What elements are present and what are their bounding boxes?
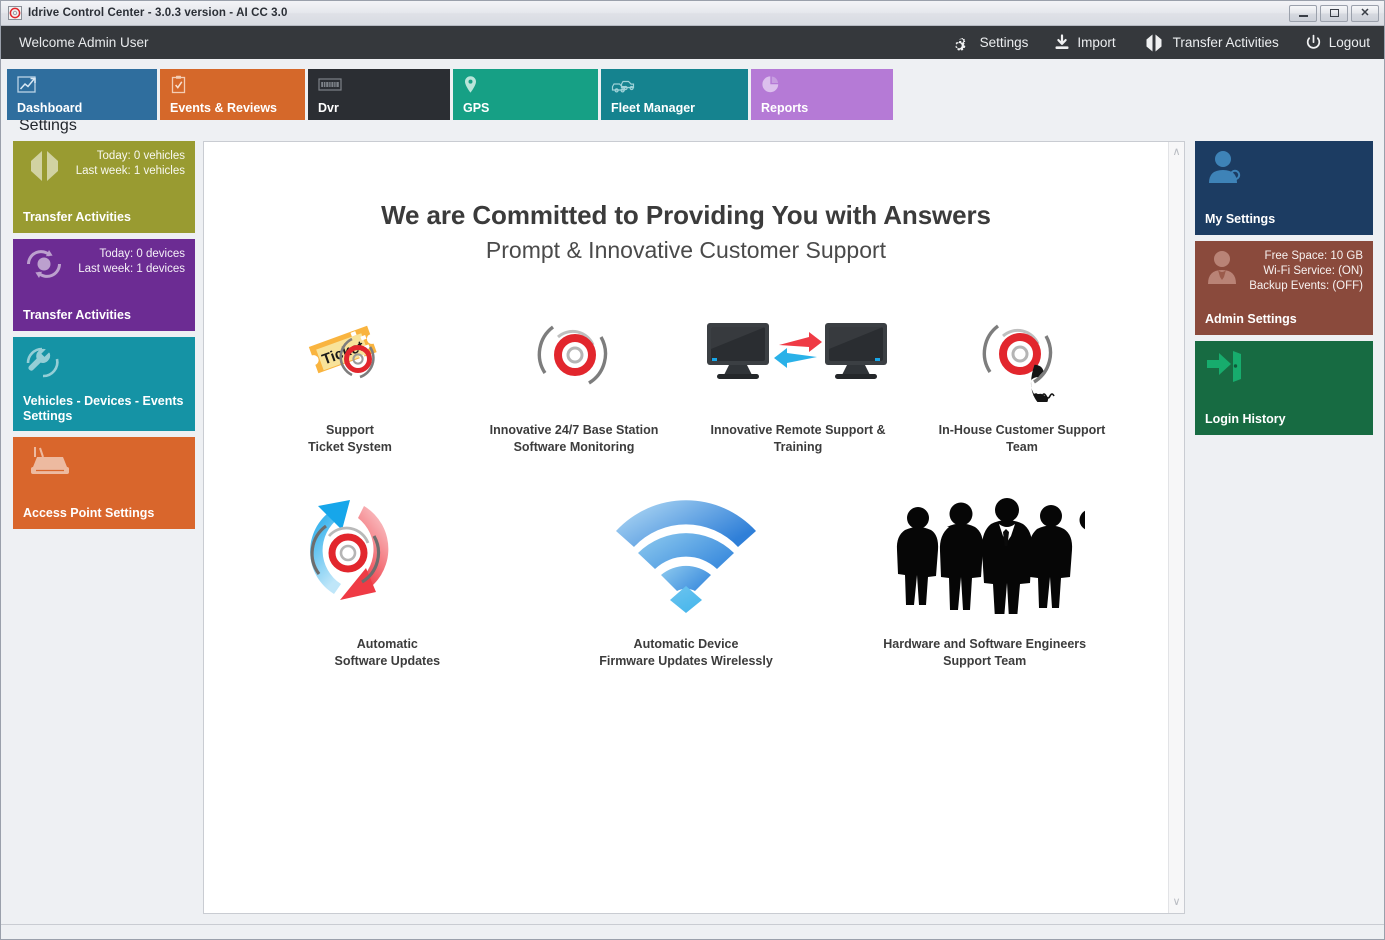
tile-stat-line: Wi-Fi Service: (ON)	[1249, 264, 1363, 279]
window-controls: ✕	[1289, 5, 1382, 22]
center-column: We are Committed to Providing You with A…	[203, 141, 1185, 914]
tile-access-point-settings[interactable]: Access Point Settings	[13, 437, 195, 529]
tile-label: Admin Settings	[1205, 312, 1363, 327]
feature-caption: Hardware and Software Engineers Support …	[883, 636, 1086, 670]
features-section: Ticket	[204, 302, 1168, 670]
maximize-button[interactable]	[1320, 5, 1348, 22]
logout-menu-label: Logout	[1329, 35, 1370, 50]
tab-dvr[interactable]: Dvr	[308, 69, 450, 120]
feature-caption: Innovative Remote Support & Training	[710, 422, 885, 456]
pie-chart-icon	[761, 74, 883, 96]
import-menu-item[interactable]: Import	[1054, 34, 1115, 51]
transfer-arrows-icon	[23, 149, 67, 188]
tile-stat-line: Today: 0 devices	[78, 247, 185, 262]
feature-in-house-support-team: In-House Customer Support Team	[910, 302, 1134, 456]
content-panel: We are Committed to Providing You with A…	[204, 142, 1168, 913]
headline: We are Committed to Providing You with A…	[204, 200, 1168, 231]
tile-label: Transfer Activities	[23, 308, 185, 323]
transfer-activities-menu-label: Transfer Activities	[1173, 35, 1279, 50]
tab-dashboard-label: Dashboard	[17, 101, 147, 120]
tile-transfer-activities-devices[interactable]: Today: 0 devices Last week: 1 devices Tr…	[13, 239, 195, 331]
tile-stat-line: Last week: 1 vehicles	[76, 164, 185, 179]
import-menu-label: Import	[1077, 35, 1115, 50]
tile-label: Access Point Settings	[23, 506, 185, 521]
settings-menu-label: Settings	[980, 35, 1029, 50]
right-tile-column: My Settings Free Space: 10 GB Wi-Fi Serv…	[1195, 141, 1373, 914]
application-window: Idrive Control Center - 3.0.3 version - …	[0, 0, 1385, 940]
dvr-icon	[318, 74, 440, 96]
subheadline: Prompt & Innovative Customer Support	[204, 237, 1168, 264]
settings-menu-item[interactable]: Settings	[951, 34, 1029, 52]
title-bar: Idrive Control Center - 3.0.3 version - …	[1, 1, 1384, 26]
chart-trend-icon	[17, 74, 147, 96]
power-icon	[1305, 34, 1322, 51]
tile-login-history[interactable]: Login History	[1195, 341, 1373, 435]
tile-label: My Settings	[1205, 212, 1363, 227]
feature-automatic-software-updates: Automatic Software Updates	[238, 490, 537, 670]
tab-fleet-manager-label: Fleet Manager	[611, 101, 738, 120]
target-phone-icon	[972, 302, 1072, 406]
target-monitoring-icon	[527, 302, 621, 406]
login-door-icon	[1205, 349, 1243, 388]
tile-stats: Free Space: 10 GB Wi-Fi Service: (ON) Ba…	[1249, 249, 1363, 294]
target-logo-icon	[7, 6, 22, 21]
tile-admin-settings[interactable]: Free Space: 10 GB Wi-Fi Service: (ON) Ba…	[1195, 241, 1373, 335]
hero-section: We are Committed to Providing You with A…	[204, 142, 1168, 264]
feature-caption: In-House Customer Support Team	[939, 422, 1106, 456]
tile-stat-line: Free Space: 10 GB	[1249, 249, 1363, 264]
tab-dvr-label: Dvr	[318, 101, 440, 120]
feature-automatic-device-firmware-updates: Automatic Device Firmware Updates Wirele…	[537, 490, 836, 670]
tab-dashboard[interactable]: Dashboard	[7, 69, 157, 120]
feature-remote-support-training: Innovative Remote Support & Training	[686, 302, 910, 456]
tile-label: Login History	[1205, 412, 1363, 427]
tile-label: Transfer Activities	[23, 210, 185, 225]
transfer-arrows-icon	[1142, 34, 1166, 52]
map-pin-icon	[463, 74, 588, 96]
scroll-up-icon[interactable]: ∧	[1172, 147, 1180, 158]
tile-vehicles-devices-events-settings[interactable]: Vehicles - Devices - Events Settings	[13, 337, 195, 431]
wrench-icon	[23, 345, 63, 386]
target-refresh-icon	[298, 490, 476, 620]
minimize-button[interactable]	[1289, 5, 1317, 22]
wifi-signal-icon	[610, 490, 762, 620]
tile-stat-line: Last week: 1 devices	[78, 262, 185, 277]
scroll-down-icon[interactable]: ∨	[1172, 897, 1180, 908]
logout-menu-item[interactable]: Logout	[1305, 34, 1370, 51]
tile-stats: Today: 0 devices Last week: 1 devices	[78, 247, 185, 277]
clipboard-check-icon	[170, 74, 295, 96]
top-navigation-bar: Welcome Admin User Settings	[1, 26, 1384, 59]
close-button[interactable]: ✕	[1351, 5, 1379, 22]
admin-user-icon	[1205, 249, 1239, 290]
feature-caption: Automatic Device Firmware Updates Wirele…	[599, 636, 773, 670]
tile-stat-line: Backup Events: (OFF)	[1249, 279, 1363, 294]
tab-gps-label: GPS	[463, 101, 588, 120]
window-title: Idrive Control Center - 3.0.3 version - …	[28, 7, 287, 19]
vertical-scrollbar[interactable]: ∧ ∨	[1168, 142, 1184, 913]
top-menu: Settings Import Transf	[951, 34, 1370, 52]
feature-caption: Support Ticket System	[308, 422, 392, 456]
people-group-icon	[885, 490, 1085, 620]
tab-events-reviews-label: Events & Reviews	[170, 101, 295, 120]
tile-stats: Today: 0 vehicles Last week: 1 vehicles	[76, 149, 185, 179]
user-settings-icon	[1205, 149, 1245, 190]
main-content-area: Today: 0 vehicles Last week: 1 vehicles …	[1, 141, 1384, 924]
features-row-1: Ticket	[238, 302, 1134, 456]
vehicles-icon	[611, 74, 738, 96]
tab-reports[interactable]: Reports	[751, 69, 893, 120]
feature-support-ticket-system: Ticket	[238, 302, 462, 456]
module-tab-bar: Dashboard Events & Reviews	[1, 59, 1384, 111]
support-ticket-icon: Ticket	[298, 302, 402, 406]
tab-events-reviews[interactable]: Events & Reviews	[160, 69, 305, 120]
content-panel-wrapper: We are Committed to Providing You with A…	[203, 141, 1185, 914]
sync-device-icon	[23, 247, 65, 286]
feature-caption: Automatic Software Updates	[335, 636, 441, 670]
status-bar	[1, 924, 1384, 939]
router-icon	[23, 445, 71, 484]
features-row-2: Automatic Software Updates	[238, 490, 1134, 670]
left-tile-column: Today: 0 vehicles Last week: 1 vehicles …	[13, 141, 195, 914]
tile-my-settings[interactable]: My Settings	[1195, 141, 1373, 235]
feature-base-station-monitoring: Innovative 24/7 Base Station Software Mo…	[462, 302, 686, 456]
tab-gps[interactable]: GPS	[453, 69, 598, 120]
remote-desktop-icon	[703, 302, 893, 406]
feature-caption: Innovative 24/7 Base Station Software Mo…	[490, 422, 659, 456]
tile-label: Vehicles - Devices - Events Settings	[23, 394, 185, 424]
tile-stat-line: Today: 0 vehicles	[76, 149, 185, 164]
transfer-activities-menu-item[interactable]: Transfer Activities	[1142, 34, 1279, 52]
download-icon	[1054, 34, 1070, 51]
tab-reports-label: Reports	[761, 101, 883, 120]
welcome-message: Welcome Admin User	[19, 35, 149, 50]
feature-hardware-software-engineers: Hardware and Software Engineers Support …	[835, 490, 1134, 670]
gear-icon	[951, 34, 973, 52]
tab-fleet-manager[interactable]: Fleet Manager	[601, 69, 748, 120]
tile-transfer-activities-vehicles[interactable]: Today: 0 vehicles Last week: 1 vehicles …	[13, 141, 195, 233]
